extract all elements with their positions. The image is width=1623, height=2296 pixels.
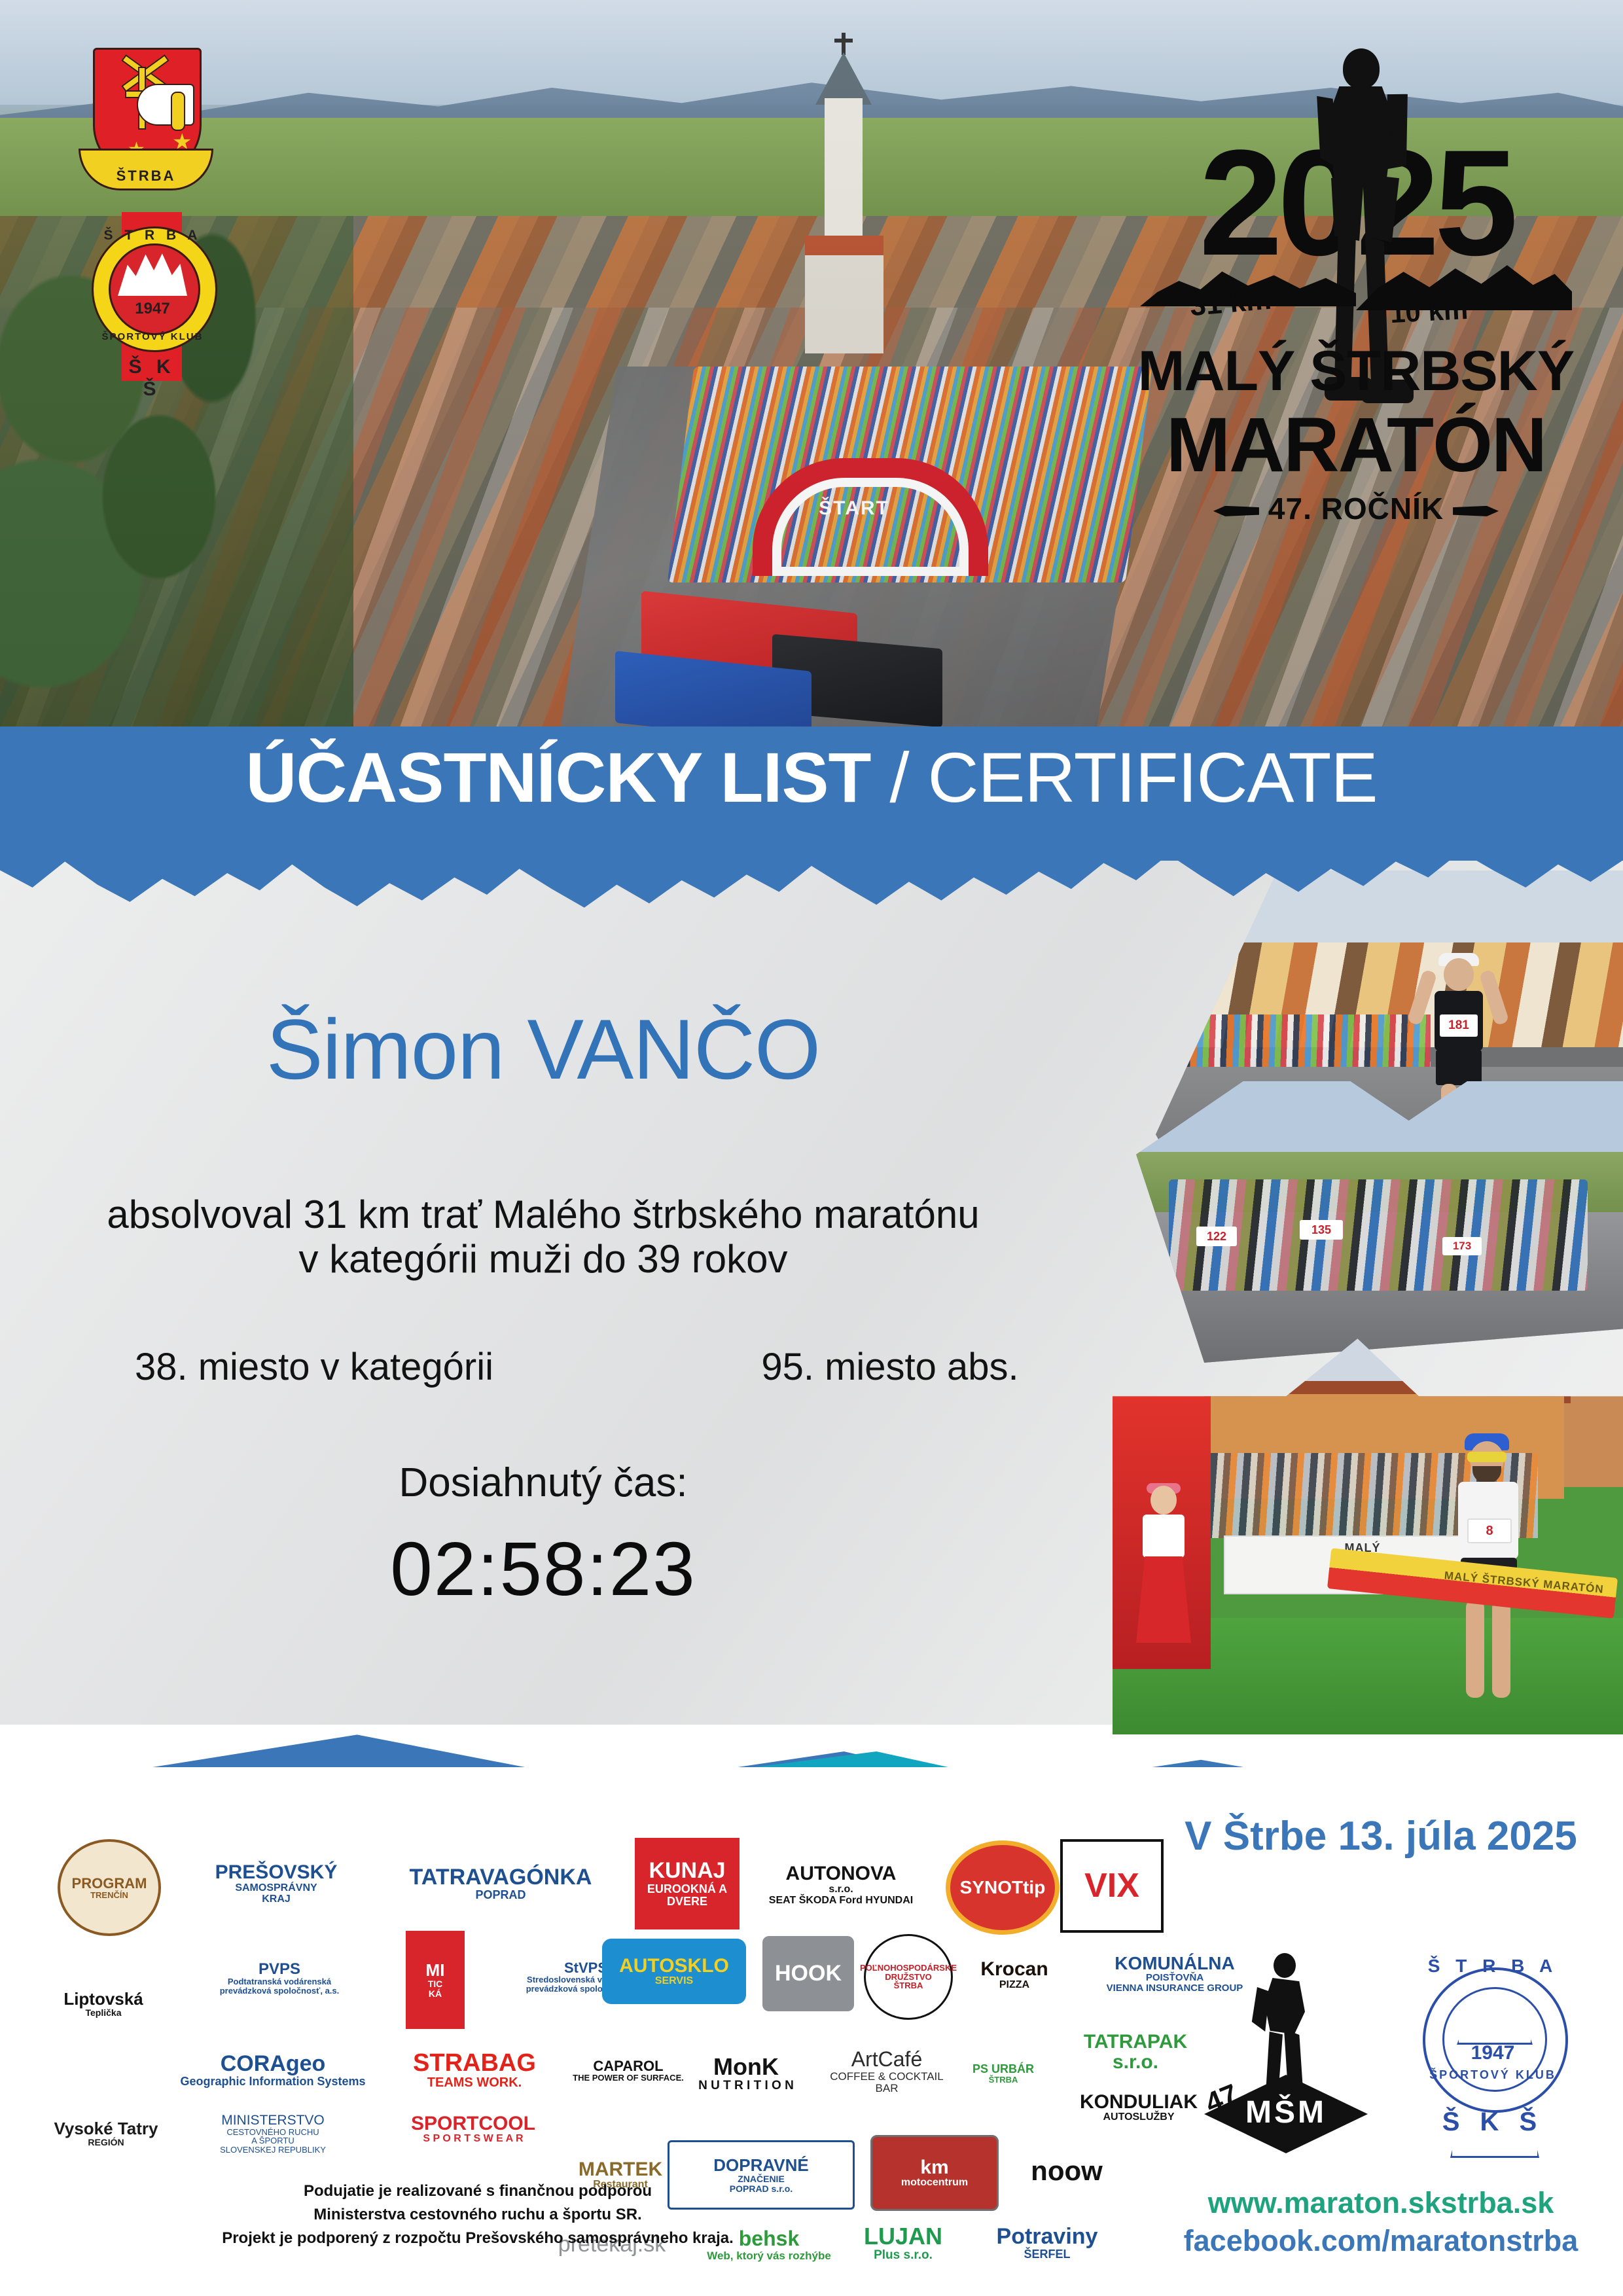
event-date: V Štrbe 13. júla 2025 — [1145, 1813, 1616, 1859]
sponsor-hook: HOOK — [762, 1936, 854, 2011]
description-line-2: v kategórii muži do 39 rokov — [0, 1234, 1086, 1284]
sponsor-line: Web, ktorý vás rozhýbe — [707, 2250, 831, 2262]
sponsor-line: AUTOSLUŽBY — [1080, 2112, 1198, 2123]
support-note: Podujatie je realizované s finančnou pod… — [52, 2179, 903, 2250]
sks-stamp: Š T R B A 1947 ŠPORTOVÝ KLUB Š K Š — [1400, 1944, 1584, 2160]
bib-number: 122 — [1196, 1227, 1237, 1246]
finish-tape-text: MALÝ ŠTRBSKÝ MARATÓN — [1444, 1570, 1604, 1596]
sponsor-line: KRAJ — [215, 1894, 338, 1905]
hand-icon — [137, 84, 194, 126]
dart-right-icon — [1453, 506, 1499, 516]
sponsor-artcafe: ArtCaféCOFFEE & COCKTAIL BAR — [825, 2036, 949, 2108]
sponsor-pvps: PVPSPodtatranská vodárenskáprevádzková s… — [165, 1939, 394, 2017]
sks-top-text: Š T R B A — [92, 228, 213, 243]
sponsor-line: Liptovská — [63, 1990, 143, 2008]
photo-runners-on-course: 122 135 173 — [1136, 1081, 1623, 1363]
sponsor-line: Plus s.r.o. — [864, 2249, 942, 2262]
msm-logo: MŠM 47. — [1198, 1950, 1368, 2160]
sponsor-konduliak: KONDULIAKAUTOSLUŽBY — [1060, 2081, 1217, 2134]
stamp-year: 1947 — [1442, 2042, 1543, 2064]
participant-name: Šimon VANČO — [0, 1000, 1086, 1098]
sponsor-line: MINISTERSTVO — [220, 2113, 326, 2128]
time-value: 02:58:23 — [0, 1525, 1086, 1613]
strba-label: ŠTRBA — [80, 168, 211, 185]
sponsor-line: CORAgeo — [180, 2053, 365, 2076]
sponsor-line: COFFEE & COCKTAIL BAR — [825, 2071, 949, 2094]
sponsor-line: s.r.o. — [769, 1884, 913, 1895]
sponsor-line: SERVIS — [619, 1976, 729, 1987]
sponsor-line: DOPRAVNÉ — [713, 2157, 808, 2174]
title-en: CERTIFICATE — [928, 738, 1378, 817]
sponsor-strabag: STRABAGTEAMS WORK. — [393, 2034, 556, 2106]
sponsor-synottip: SYNOTtip — [946, 1840, 1060, 1935]
sponsor-line: MonK — [698, 2054, 794, 2079]
website-link[interactable]: www.maraton.skstrba.sk — [1145, 2186, 1616, 2220]
distance-31km: 31 km — [1188, 283, 1273, 323]
sponsor-caparol: CAPAROLTHE POWER OF SURFACE. — [569, 2034, 687, 2106]
sponsor-autonova: AUTONOVAs.r.o.SEAT ŠKODA Ford HYUNDAI — [746, 1839, 936, 1931]
event-name-line2: MARATÓN — [1133, 401, 1578, 490]
certificate-page: ŠTART ★ ★ ★ ŠTRBA Š T R B A 1947 ŠPORTOV… — [0, 0, 1623, 2296]
sponsor-tatravagonka: TATRAVAGÓNKAPOPRAD — [393, 1851, 609, 1916]
sponsor-line: VIX — [1084, 1868, 1139, 1904]
sponsor-monk-nutrition: MonKN U T R I T I O N — [681, 2041, 811, 2106]
sponsor-line: KONDULIAK — [1080, 2092, 1198, 2113]
sks-year: 1947 — [109, 300, 196, 318]
sponsor-line: Potraviny — [997, 2225, 1098, 2249]
sponsor-noow: noow — [1011, 2142, 1122, 2200]
sponsor-vysoke-tatry: Vysoké TatryREGIÓN — [47, 2091, 165, 2176]
sponsor-line: Geographic Information Systems — [180, 2075, 365, 2088]
sponsor-line: MARTEK — [579, 2159, 662, 2180]
sponsor-ps-urbar-strba: PS URBÁRŠTRBA — [961, 2034, 1046, 2113]
bib-number: 181 — [1440, 1014, 1478, 1037]
sponsor-line: THE POWER OF SURFACE. — [573, 2073, 684, 2083]
sponsor-tatrapak: TATRAPAK s.r.o. — [1060, 2029, 1211, 2075]
certificate-title: ÚČASTNÍCKY LIST / CERTIFICATE — [0, 736, 1623, 818]
event-logo: 2025 31 km 10 km MALÝ ŠTRBSKÝ MARATÓN 47… — [1133, 39, 1578, 596]
bib-number: 173 — [1442, 1237, 1482, 1255]
sponsor-line: STRABAG — [413, 2051, 536, 2077]
description-line-1: absolvoval 31 km trať Malého štrbského m… — [0, 1190, 1086, 1240]
sponsor-line: N U T R I T I O N — [698, 2079, 794, 2092]
sponsor-line: POPRAD — [410, 1889, 592, 1901]
strba-coat-of-arms: ★ ★ ★ ŠTRBA — [79, 36, 209, 200]
sponsor-line: Vysoké Tatry — [54, 2120, 158, 2138]
event-edition-row: 47. ROČNÍK — [1133, 491, 1578, 526]
facebook-link[interactable]: facebook.com/maratonstrba — [1139, 2224, 1623, 2258]
sponsor-line: ŠERFEL — [997, 2248, 1098, 2261]
sponsor-line: SEAT ŠKODA Ford HYUNDAI — [769, 1895, 913, 1907]
sponsor-program-trencin: PROGRAMTRENČÍN — [58, 1839, 161, 1936]
sponsor-line: POĽNOHOSPODÁRSKE DRUŽSTVO — [860, 1964, 957, 1981]
sponsor-line: ŠTRBA — [972, 2075, 1034, 2085]
time-label: Dosiahnutý čas: — [0, 1460, 1086, 1506]
stamp-top-text: Š T R B A — [1423, 1956, 1563, 1977]
sponsor-line: Teplička — [63, 2008, 143, 2018]
sponsor-line: km — [901, 2157, 968, 2178]
sponsor-line: KÁ — [426, 1989, 445, 1999]
sponsor-kunaj: KUNAJEUROOKNÁ A DVERE — [635, 1838, 740, 1929]
sponsor-line: KUNAJ — [635, 1859, 740, 1883]
ribbon: ŠTRBA — [79, 149, 213, 190]
sponsor-line: Krocan — [980, 1959, 1048, 1980]
sponsor-line: noow — [1031, 2157, 1103, 2185]
sks-club-emblem: Š T R B A 1947 ŠPORTOVÝ KLUB Š K Š — [84, 208, 221, 385]
sponsor-ministerstvo: MINISTERSTVOCESTOVNÉHO RUCHUA ŠPORTUSLOV… — [171, 2094, 374, 2173]
sponsor-line: motocentrum — [901, 2178, 968, 2189]
cuff — [171, 92, 185, 131]
stamp-bottom-text: ŠPORTOVÝ KLUB — [1423, 2068, 1563, 2082]
sponsor-line: TRENČÍN — [72, 1891, 147, 1900]
title-sk: ÚČASTNÍCKY LIST — [245, 738, 870, 817]
place-absolute: 95. miesto abs. — [687, 1345, 1093, 1389]
sponsor-line: TATRAPAK s.r.o. — [1060, 2032, 1211, 2073]
sponsor-line: AUTOSKLO — [619, 1956, 729, 1977]
bib-number: 135 — [1300, 1220, 1343, 1240]
sponsor-line: SYNOTtip — [960, 1878, 1046, 1897]
sponsor-line: ŠTRBA — [860, 1981, 957, 1990]
photo-collage: 181 122 135 173 MALÝŠTRBSKÝMARATÓN — [1106, 870, 1623, 1734]
sponsor-miticka: MITICKÁ — [406, 1931, 465, 2029]
sponsor-line: TIC — [426, 1979, 445, 1989]
sponsor-potraviny-serfel: PotravinyŠERFEL — [975, 2207, 1119, 2279]
girl-in-folk-costume — [1132, 1486, 1195, 1669]
sponsor-line: EUROOKNÁ A DVERE — [635, 1883, 740, 1908]
sponsor-line: PREŠOVSKÝ — [215, 1862, 338, 1883]
sponsor-line: AUTONOVA — [769, 1863, 913, 1884]
sponsor-line: REGIÓN — [54, 2138, 158, 2147]
sponsor-line: A ŠPORTU — [220, 2136, 326, 2145]
sponsor-line: MI — [426, 1962, 445, 1979]
event-name-line1: MALÝ ŠTRBSKÝ — [1133, 339, 1578, 404]
sponsor-line: S P O R T S W E A R — [411, 2134, 535, 2145]
sponsor-presovsky-kraj: PREŠOVSKÝSAMOSPRÁVNYKRAJ — [171, 1844, 381, 1923]
title-separator: / — [870, 738, 927, 817]
sponsor-liptovska-teplicka: LiptovskáTeplička — [51, 1939, 156, 2070]
event-edition: 47. ROČNÍK — [1268, 492, 1444, 526]
sponsor-line: HOOK — [775, 1962, 842, 1986]
sponsor-line: PS URBÁR — [972, 2063, 1034, 2075]
sponsor-line: Podtatranská vodárenská — [220, 1977, 340, 1986]
distance-10km: 10 km — [1389, 294, 1469, 329]
sponsor-line: prevádzková spoločnosť, a.s. — [220, 1986, 340, 1996]
dart-left-icon — [1213, 506, 1259, 516]
sponsor-line: PVPS — [220, 1961, 340, 1977]
sponsor-line: SLOVENSKEJ REPUBLIKY — [220, 2145, 326, 2155]
sks-bottom-text: ŠPORTOVÝ KLUB — [92, 331, 213, 342]
sks-abbrev: Š K Š — [122, 356, 182, 401]
photo-finish-line: MALÝŠTRBSKÝMARATÓN 8 MALÝ ŠTRBSKÝ MARATÓ… — [1113, 1322, 1623, 1734]
sponsor-autosklo-servis: AUTOSKLOSERVIS — [602, 1939, 746, 2004]
sponsor-line: SPORTCOOL — [411, 2113, 535, 2134]
place-in-category: 38. miesto v kategórii — [85, 1345, 543, 1389]
sponsor-krocan-pizza: KrocanPIZZA — [962, 1934, 1067, 2016]
sponsor-line: TATRAVAGÓNKA — [410, 1866, 592, 1890]
sponsor-line: CAPAROL — [573, 2058, 684, 2073]
sponsor-pd-strba: POĽNOHOSPODÁRSKE DRUŽSTVOŠTRBA — [864, 1934, 953, 2020]
sponsor-line: CESTOVNÉHO RUCHU — [220, 2128, 326, 2137]
sponsor-sportcool: SPORTCOOLS P O R T S W E A R — [391, 2100, 555, 2159]
sponsor-line: SAMOSPRÁVNY — [215, 1883, 338, 1894]
stamp-abbrev: Š K Š — [1423, 2108, 1563, 2137]
bib-number: 8 — [1467, 1518, 1512, 1543]
sponsor-line: TEAMS WORK. — [413, 2076, 536, 2090]
sponsor-line: ArtCafé — [825, 2049, 949, 2071]
sponsor-line: PIZZA — [980, 1980, 1048, 1991]
sponsor-line: PROGRAM — [72, 1876, 147, 1891]
